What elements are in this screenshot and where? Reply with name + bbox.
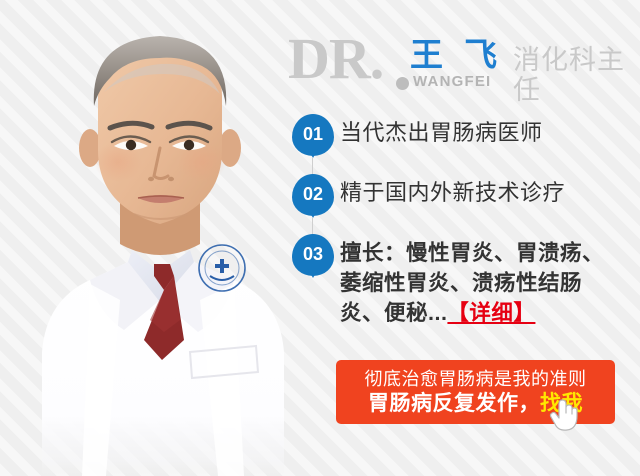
- cta-line-1: 彻底治愈胃肠病是我的准则: [365, 368, 587, 390]
- pin-number: 03: [303, 245, 323, 263]
- specialties-text: 擅长：慢性胃炎、胃溃疡、 萎缩性胃炎、溃疡性结肠 炎、便秘...【详细】: [340, 234, 640, 328]
- hand-cursor-icon: [548, 396, 582, 434]
- pin-marker-icon: 01: [292, 114, 334, 156]
- list-item: 01 当代杰出胃肠病医师: [292, 114, 640, 156]
- pin-wrap: 02: [292, 174, 340, 216]
- list-item-text: 精于国内外新技术诊疗: [340, 174, 640, 208]
- cta-line-2-prefix: 胃肠病反复发作，: [368, 392, 540, 415]
- cta-banner[interactable]: 彻底治愈胃肠病是我的准则 胃肠病反复发作，找我: [336, 360, 615, 424]
- specialties-line-2: 萎缩性胃炎、溃疡性结肠: [340, 268, 640, 298]
- list-item-text: 当代杰出胃肠病医师: [340, 114, 640, 148]
- doctor-title: 消化科主任: [513, 45, 640, 105]
- credentials-list: 01 当代杰出胃肠病医师 02 精于国内外新技术诊疗 03 擅长：: [292, 114, 640, 328]
- list-item: 02 精于国内外新技术诊疗: [292, 174, 640, 216]
- dr-word: DR.: [288, 30, 383, 88]
- doctor-logo-header: DR. 王 飞 WANGFEI 消化科主任: [288, 22, 640, 94]
- promo-banner-root: DR. 王 飞 WANGFEI 消化科主任 01 当代杰出胃肠病医师 02 精于…: [0, 0, 640, 476]
- pin-number: 02: [303, 185, 323, 203]
- list-item-specialties: 03 擅长：慢性胃炎、胃溃疡、 萎缩性胃炎、溃疡性结肠 炎、便秘...【详细】: [292, 234, 640, 328]
- detail-link[interactable]: 【详细】: [447, 301, 535, 325]
- pin-wrap: 03: [292, 234, 340, 276]
- doctor-name-en: WANGFEI: [413, 74, 491, 90]
- doctor-name-cn: 王 飞: [410, 38, 503, 72]
- pin-wrap: 01: [292, 114, 340, 156]
- specialties-line-1: 擅长：慢性胃炎、胃溃疡、: [340, 238, 640, 268]
- pin-marker-icon: 03: [292, 234, 334, 276]
- specialties-line-3: 炎、便秘...【详细】: [340, 298, 640, 328]
- pin-marker-icon: 02: [292, 174, 334, 216]
- specialties-line-3-prefix: 炎、便秘...: [340, 301, 447, 325]
- pin-number: 01: [303, 125, 323, 143]
- doctor-photo: [0, 0, 324, 476]
- dr-dot-icon: [396, 77, 409, 90]
